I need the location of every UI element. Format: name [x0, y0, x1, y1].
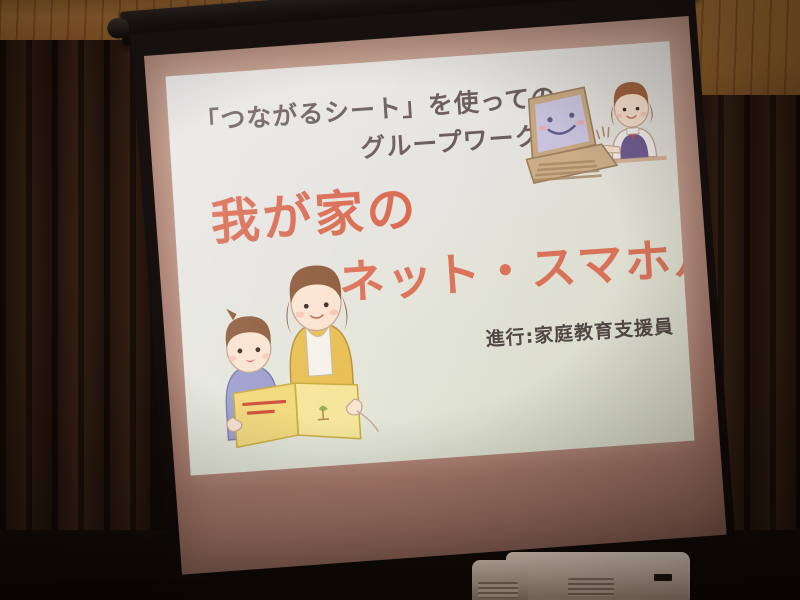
projector-vent-right — [568, 578, 614, 596]
projector-label-plate — [654, 574, 672, 581]
projector-body — [506, 552, 690, 600]
roller-knob-left — [107, 17, 131, 39]
projector-vent-left — [478, 582, 518, 598]
mother-and-child-illustration — [197, 247, 389, 454]
projection-screen: 「つながるシート」を使っての グループワーク 我が家の ネット・スマホルール 進… — [108, 8, 708, 598]
girl-with-smiling-laptop-illustration — [511, 60, 670, 220]
slide-presenter-credit: 進行:家庭教育支援員 — [485, 312, 675, 352]
slide-title-line1: 我が家の — [208, 169, 420, 254]
projector-lens-housing — [472, 560, 528, 600]
projector — [472, 546, 690, 600]
photo-scene: 「つながるシート」を使っての グループワーク 我が家の ネット・スマホルール 進… — [0, 0, 800, 600]
screen-surface: 「つながるシート」を使っての グループワーク 我が家の ネット・スマホルール 進… — [144, 16, 727, 575]
projected-slide: 「つながるシート」を使っての グループワーク 我が家の ネット・スマホルール 進… — [166, 41, 695, 475]
